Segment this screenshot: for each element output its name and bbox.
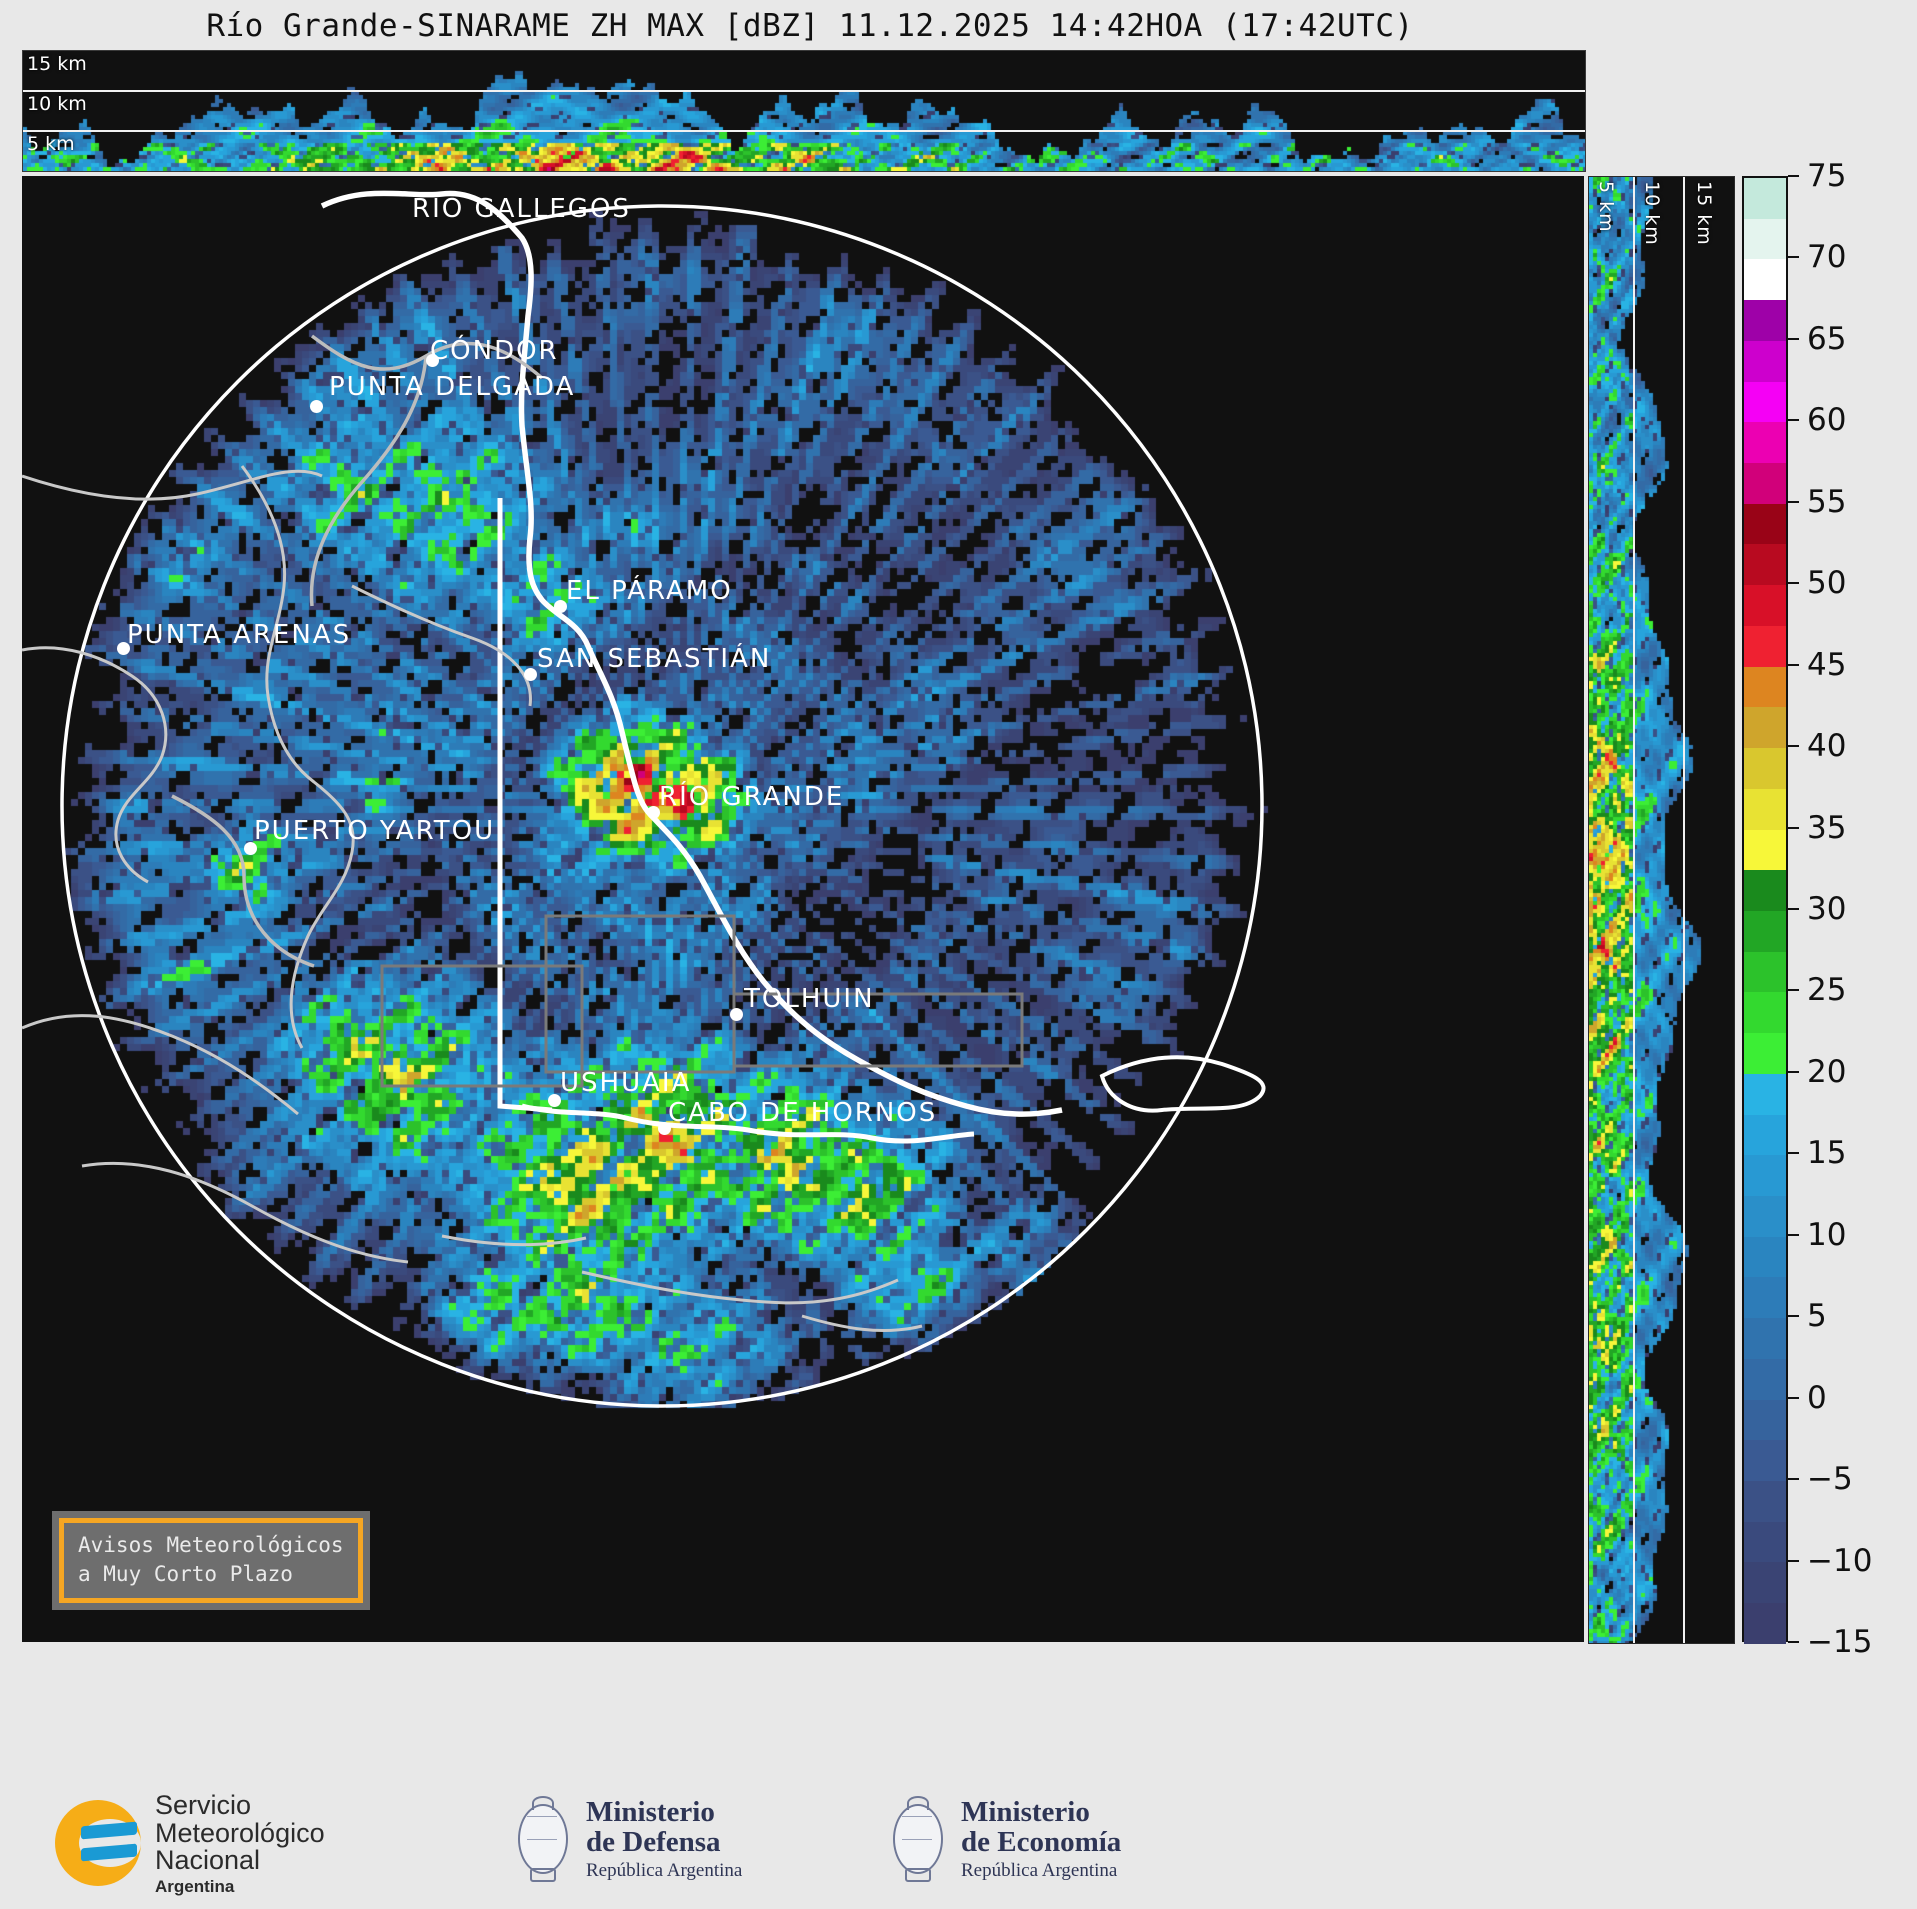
province-outlines — [22, 466, 922, 1331]
colorbar-segment — [1744, 870, 1786, 911]
colorbar-segment — [1744, 1033, 1786, 1074]
colorbar-segment — [1744, 300, 1786, 341]
colorbar-segment — [1744, 382, 1786, 423]
economia-line-3: República Argentina — [961, 1861, 1121, 1881]
avisos-line-1: Avisos Meteorológicos — [78, 1531, 344, 1559]
defensa-line-2: de Defensa — [586, 1827, 742, 1858]
colorbar-segment — [1744, 585, 1786, 626]
defensa-line-1: Ministerio — [586, 1797, 742, 1828]
rivers-and-roads — [172, 336, 542, 966]
smn-line-3: Nacional — [155, 1847, 325, 1875]
colorbar-segment — [1744, 463, 1786, 504]
colorbar-segment — [1744, 1440, 1786, 1481]
colorbar-segment — [1744, 1562, 1786, 1603]
economia-line-1: Ministerio — [961, 1797, 1121, 1828]
right-cross-section-canvas — [1589, 177, 1734, 1643]
altitude-gridline-5km — [1633, 177, 1635, 1643]
smn-line-1: Servicio — [155, 1792, 325, 1820]
colorbar-segment — [1744, 1237, 1786, 1278]
colorbar-segment — [1744, 1318, 1786, 1359]
argentina-coat-of-arms-icon-2 — [885, 1796, 947, 1882]
altitude-gridline-10km-right — [1683, 177, 1685, 1643]
coastline-south — [522, 1106, 974, 1141]
city-dot[interactable] — [524, 668, 537, 681]
colorbar-segment — [1744, 1359, 1786, 1400]
avisos-line-2: a Muy Corto Plazo — [78, 1560, 344, 1588]
city-dot[interactable] — [658, 1122, 671, 1135]
altitude-label-15km-right: 15 km — [1693, 181, 1715, 246]
colorbar-tick-labels: 757065605550454035302520151050−5−10−15 — [1788, 176, 1908, 1642]
colorbar-segment — [1744, 504, 1786, 545]
city-dot[interactable] — [730, 1008, 743, 1021]
city-dot[interactable] — [554, 600, 567, 613]
smn-logo-icon — [55, 1800, 141, 1886]
avisos-warning-inner: Avisos Meteorológicos a Muy Corto Plazo — [59, 1518, 363, 1603]
city-dot[interactable] — [310, 400, 323, 413]
logo-ministerio-defensa: Ministerio de Defensa República Argentin… — [510, 1796, 742, 1882]
colorbar-segment — [1744, 178, 1786, 219]
altitude-label-5km: 5 km — [27, 133, 75, 155]
page-title: Río Grande-SINARAME ZH MAX [dBZ] 11.12.2… — [0, 8, 1620, 44]
colorbar-segment — [1744, 992, 1786, 1033]
city-dot[interactable] — [548, 1094, 561, 1107]
economia-line-2: de Economía — [961, 1827, 1121, 1858]
colorbar-segment — [1744, 707, 1786, 748]
colorbar-segment — [1744, 830, 1786, 871]
city-dot[interactable] — [244, 842, 257, 855]
colorbar-segment — [1744, 789, 1786, 830]
colorbar-segment — [1744, 1603, 1786, 1644]
right-cross-section-panel: 5 km 10 km 15 km — [1588, 176, 1735, 1644]
avisos-warning-box[interactable]: Avisos Meteorológicos a Muy Corto Plazo — [52, 1511, 370, 1610]
city-dot[interactable] — [647, 806, 660, 819]
colorbar-segment — [1744, 1074, 1786, 1115]
smn-logo-text: Servicio Meteorológico Nacional Argentin… — [155, 1792, 325, 1895]
colorbar — [1742, 176, 1788, 1642]
colorbar-segment — [1744, 1481, 1786, 1522]
colorbar-segment — [1744, 341, 1786, 382]
colorbar-segment — [1744, 952, 1786, 993]
smn-line-2: Meteorológico — [155, 1820, 325, 1848]
colorbar-segment — [1744, 1155, 1786, 1196]
altitude-label-10km-right: 10 km — [1641, 181, 1663, 246]
altitude-label-5km-right: 5 km — [1595, 181, 1617, 233]
city-dot[interactable] — [117, 642, 130, 655]
colorbar-segment — [1744, 1277, 1786, 1318]
colorbar-segment — [1744, 667, 1786, 708]
colorbar-segment — [1744, 911, 1786, 952]
colorbar-segment — [1744, 1115, 1786, 1156]
colorbar-segment — [1744, 748, 1786, 789]
economia-text: Ministerio de Economía República Argenti… — [961, 1797, 1121, 1882]
logo-smn: Servicio Meteorológico Nacional Argentin… — [55, 1792, 325, 1895]
smn-line-4: Argentina — [155, 1878, 325, 1895]
top-cross-section-canvas — [23, 51, 1585, 171]
colorbar-segment — [1744, 219, 1786, 260]
alert-sector-polygons — [382, 916, 1022, 1086]
footer-logos: Servicio Meteorológico Nacional Argentin… — [0, 1770, 1917, 1909]
map-overlay — [22, 176, 1584, 1642]
altitude-gridline-10km — [23, 130, 1585, 132]
colorbar-segment — [1744, 626, 1786, 667]
argentina-coat-of-arms-icon — [510, 1796, 572, 1882]
colorbar-segment — [1744, 259, 1786, 300]
city-dot[interactable] — [426, 354, 439, 367]
colorbar-segment — [1744, 544, 1786, 585]
altitude-label-15km: 15 km — [27, 53, 87, 75]
colorbar-segment — [1744, 422, 1786, 463]
range-ring — [62, 206, 1262, 1406]
defensa-text: Ministerio de Defensa República Argentin… — [586, 1797, 742, 1882]
coastline-east — [322, 193, 1062, 1114]
colorbar-segment — [1744, 1196, 1786, 1237]
international-border — [500, 498, 552, 1110]
colorbar-segment — [1744, 1522, 1786, 1563]
radar-ppi-panel[interactable]: RÍO GALLEGOSCÓNDORPUNTA DELGADAPUNTA ARE… — [22, 176, 1584, 1642]
logo-ministerio-economia: Ministerio de Economía República Argenti… — [885, 1796, 1121, 1882]
defensa-line-3: República Argentina — [586, 1861, 742, 1881]
top-cross-section-panel: 15 km 10 km 5 km — [22, 50, 1586, 172]
altitude-gridline-15km — [23, 90, 1585, 92]
colorbar-segment — [1744, 1400, 1786, 1441]
altitude-label-10km: 10 km — [27, 93, 87, 115]
